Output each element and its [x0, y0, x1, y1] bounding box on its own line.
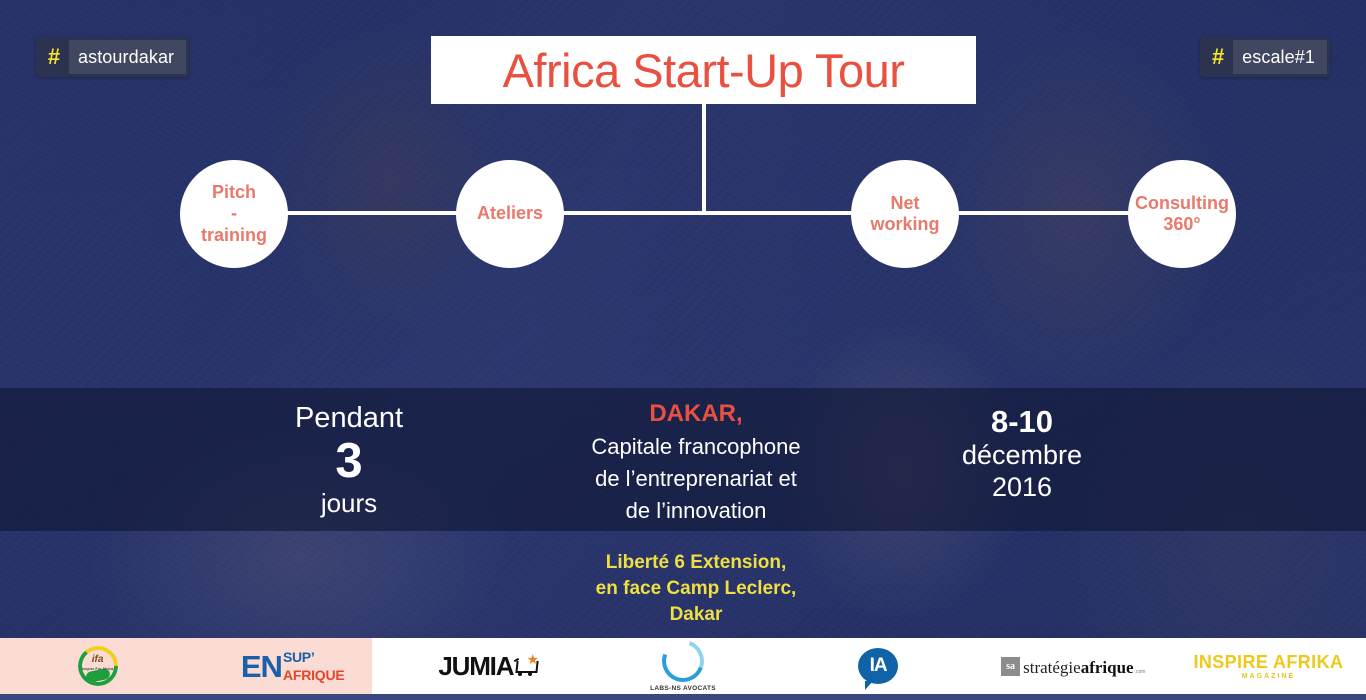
- info-date: 8-10 décembre 2016: [912, 405, 1132, 503]
- footer-bottom-strip: [0, 694, 1366, 700]
- venue-address: Liberté 6 Extension, en face Camp Lecler…: [560, 550, 832, 629]
- city-tagline-line2: de l’entreprenariat et: [560, 463, 832, 495]
- page-title: Africa Start-Up Tour: [503, 43, 905, 98]
- city-tagline-line3: de l’innovation: [560, 495, 832, 527]
- cart-wheel-icon: [528, 672, 532, 676]
- pillar-circle-consulting-360: Consulting 360°: [1128, 160, 1236, 268]
- ensup-afrique-text: AFRIQUE: [283, 668, 345, 682]
- ensup-text-stack: SUP’ AFRIQUE: [283, 650, 345, 682]
- pillar-circle-ateliers: Ateliers: [456, 160, 564, 268]
- date-year: 2016: [912, 472, 1132, 504]
- sponsor-logo-ifa: ifa Inspire For Africa: [0, 638, 195, 694]
- hashtag-badge-astourdakar: # astourdakar: [36, 37, 189, 77]
- info-city: DAKAR, Capitale francophone de l’entrepr…: [560, 398, 832, 527]
- sponsor-bar: ifa Inspire For Africa EN SUP’ AFRIQUE J…: [0, 638, 1366, 694]
- ifa-tagline: Inspire For Africa: [70, 667, 126, 671]
- hashtag-badge-escale: # escale#1: [1200, 37, 1330, 77]
- ifa-logo-icon: ifa Inspire For Africa: [78, 646, 118, 686]
- jumia-wordmark: JUMIA: [438, 653, 513, 679]
- city-name: DAKAR,: [560, 398, 832, 429]
- ensup-main-text: EN: [241, 651, 282, 682]
- inspire-afrika-subtitle: MAGAZINE: [1242, 673, 1295, 680]
- ensup-logo: EN SUP’ AFRIQUE: [241, 650, 345, 682]
- duration-unit: jours: [229, 488, 469, 519]
- date-days: 8-10: [912, 405, 1132, 440]
- strategie-afrique-logo: sa stratégie afrique .com: [1001, 657, 1145, 676]
- duration-prefix: Pendant: [229, 400, 469, 436]
- labsns-wordmark: LABS-NS AVOCATS: [650, 685, 716, 692]
- connector-vertical: [702, 104, 706, 214]
- labsns-logo: LABS-NS AVOCATS: [650, 640, 716, 692]
- sa-bold-text: afrique: [1081, 659, 1134, 676]
- ia-wordmark: IA: [870, 655, 887, 677]
- ifa-wordmark: ifa: [78, 654, 118, 665]
- hash-icon: #: [1203, 40, 1233, 74]
- info-duration: Pendant 3 jours: [229, 400, 469, 519]
- pillar-circle-pitch-training: Pitch - training: [180, 160, 288, 268]
- poster-canvas: # astourdakar # escale#1 Africa Start-Up…: [0, 0, 1366, 700]
- sa-monogram-icon: sa: [1001, 657, 1020, 676]
- hash-icon: #: [39, 40, 69, 74]
- sponsor-logo-strategie-afrique: sa stratégie afrique .com: [976, 638, 1171, 694]
- ensup-sup-text: SUP’: [283, 650, 345, 664]
- hashtag-label-right: escale#1: [1233, 40, 1327, 74]
- inspire-afrika-wordmark: INSPIRE AFRIKA: [1193, 653, 1343, 671]
- sa-domain-text: .com: [1135, 669, 1146, 675]
- sponsor-logo-labsns-avocats: LABS-NS AVOCATS: [585, 638, 780, 694]
- jumia-logo: JUMIA: [438, 653, 537, 679]
- sponsor-logo-ia: IA: [781, 638, 976, 694]
- inspire-afrika-logo: INSPIRE AFRIKA MAGAZINE: [1193, 653, 1343, 680]
- city-tagline-line1: Capitale francophone: [560, 431, 832, 463]
- hashtag-label-left: astourdakar: [69, 40, 186, 74]
- pillar-circle-networking: Net working: [851, 160, 959, 268]
- sponsor-logo-inspire-afrika: INSPIRE AFRIKA MAGAZINE: [1171, 638, 1366, 694]
- speech-bubble-icon: IA: [858, 648, 898, 684]
- cart-wheel-icon: [518, 672, 522, 676]
- duration-number: 3: [229, 436, 469, 488]
- sponsor-logo-ensup-afrique: EN SUP’ AFRIQUE: [195, 638, 390, 694]
- sa-light-text: stratégie: [1023, 659, 1081, 676]
- title-box: Africa Start-Up Tour: [431, 36, 976, 104]
- sponsor-logo-jumia: JUMIA: [390, 638, 585, 694]
- shopping-cart-icon: [514, 656, 537, 676]
- date-month: décembre: [912, 440, 1132, 472]
- spiral-icon: [655, 633, 711, 689]
